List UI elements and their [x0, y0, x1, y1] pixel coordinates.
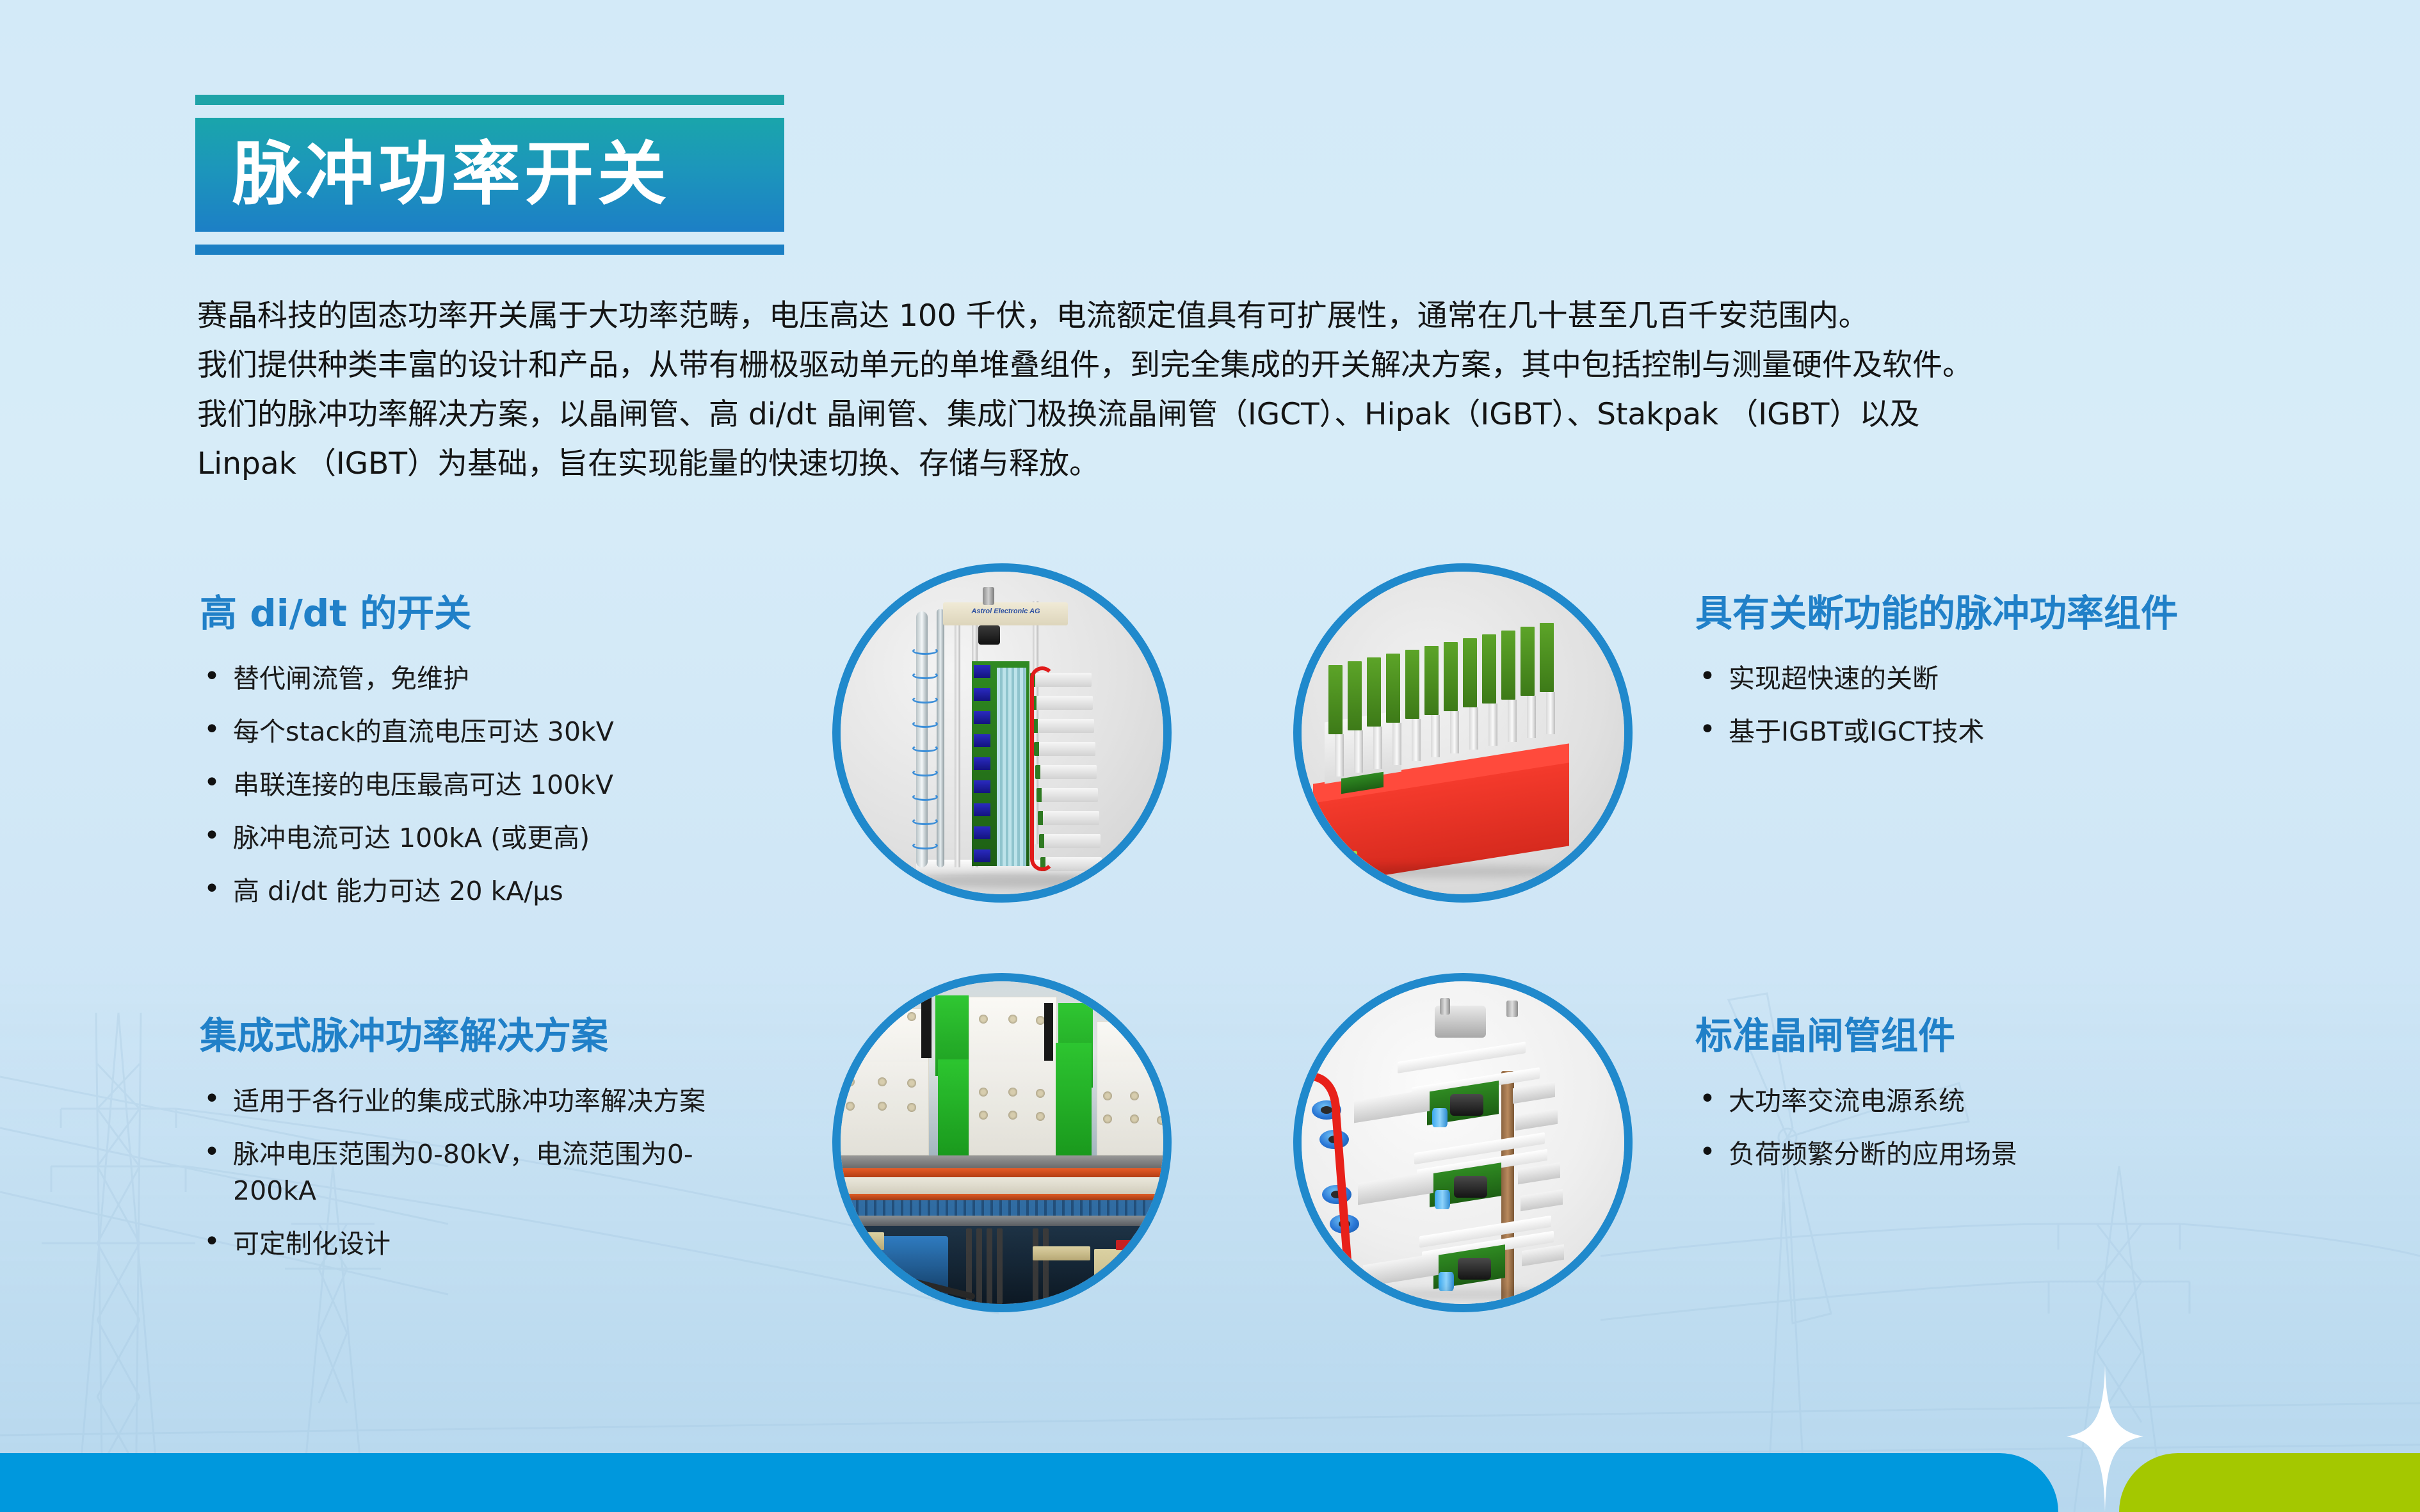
intro-line-2: 我们提供种类丰富的设计和产品，从带有栅极驱动单元的单堆叠组件，到完全集成的开关解… — [197, 341, 2156, 390]
feature-integrated-list: 适用于各行业的集成式脉冲功率解决方案 脉冲电压范围为0-80kV，电流范围为0-… — [200, 1083, 763, 1262]
list-item: 可定制化设计 — [200, 1226, 763, 1262]
list-item: 高 di/dt 能力可达 20 kA/µs — [200, 873, 840, 910]
thyristor-stack-illustration: Astrol Electronic AG — [841, 572, 1163, 894]
product-image-thyristor-stack: Astrol Electronic AG — [832, 563, 1172, 903]
intro-line-3: 我们的脉冲功率解决方案，以晶闸管、高 di/dt 晶闸管、集成门极换流晶闸管（I… — [197, 390, 2156, 439]
feature-turn-off-list: 实现超快速的关断 基于IGBT或IGCT技术 — [1695, 661, 2374, 750]
product-image-standard-thyristor-assembly — [1293, 973, 1633, 1312]
igct-module-row-illustration — [1302, 572, 1624, 894]
device-label-astrol: Astrol Electronic AG — [948, 607, 1063, 615]
list-item: 大功率交流电源系统 — [1695, 1083, 2374, 1120]
poster-page: 脉冲功率开关 赛晶科技的固态功率开关属于大功率范畴，电压高达 100 千伏，电流… — [0, 0, 2420, 1512]
list-item: 脉冲电流可达 100kA (或更高) — [200, 820, 840, 857]
list-item: 串联连接的电压最高可达 100kV — [200, 767, 840, 803]
feature-high-didt: 高 di/dt 的开关 替代闸流管，免维护 每个stack的直流电压可达 30k… — [200, 592, 840, 926]
footer-blue-section — [0, 1453, 2058, 1512]
list-item: 实现超快速的关断 — [1695, 661, 2374, 697]
feature-standard-thyristor-list: 大功率交流电源系统 负荷频繁分断的应用场景 — [1695, 1083, 2374, 1173]
list-item: 脉冲电压范围为0-80kV，电流范围为0-200kA — [200, 1136, 763, 1209]
product-image-integrated-cabinet — [832, 973, 1172, 1312]
list-item: 替代闸流管，免维护 — [200, 661, 840, 697]
feature-integrated-solution: 集成式脉冲功率解决方案 适用于各行业的集成式脉冲功率解决方案 脉冲电压范围为0-… — [200, 1015, 763, 1279]
feature-integrated-title: 集成式脉冲功率解决方案 — [200, 1015, 763, 1058]
feature-turn-off-title: 具有关断功能的脉冲功率组件 — [1695, 592, 2374, 635]
page-title: 脉冲功率开关 — [195, 140, 670, 209]
intro-line-1: 赛晶科技的固态功率开关属于大功率范畴，电压高达 100 千伏，电流额定值具有可扩… — [197, 291, 2156, 341]
product-image-igct-module-row — [1293, 563, 1633, 903]
list-item: 每个stack的直流电压可达 30kV — [200, 714, 840, 750]
red-cable-icon — [1302, 1065, 1417, 1312]
title-rule-top — [195, 95, 784, 105]
footer-bar — [0, 1453, 2420, 1512]
integrated-cabinet-illustration — [841, 981, 1163, 1304]
intro-paragraph: 赛晶科技的固态功率开关属于大功率范畴，电压高达 100 千伏，电流额定值具有可扩… — [197, 291, 2156, 488]
feature-standard-thyristor-title: 标准晶闸管组件 — [1695, 1015, 2374, 1058]
page-title-block: 脉冲功率开关 — [195, 95, 784, 255]
feature-high-didt-title: 高 di/dt 的开关 — [200, 592, 840, 635]
list-item: 负荷频繁分断的应用场景 — [1695, 1136, 2374, 1173]
title-plate: 脉冲功率开关 — [195, 118, 784, 232]
standard-thyristor-assembly-illustration — [1302, 981, 1624, 1304]
feature-high-didt-list: 替代闸流管，免维护 每个stack的直流电压可达 30kV 串联连接的电压最高可… — [200, 661, 840, 910]
list-item: 适用于各行业的集成式脉冲功率解决方案 — [200, 1083, 763, 1120]
intro-line-4: Linpak （IGBT）为基础，旨在实现能量的快速切换、存储与释放。 — [197, 439, 2156, 488]
footer-green-section — [2119, 1453, 2420, 1512]
feature-standard-thyristor: 标准晶闸管组件 大功率交流电源系统 负荷频繁分断的应用场景 — [1695, 1015, 2374, 1189]
list-item: 基于IGBT或IGCT技术 — [1695, 714, 2374, 750]
feature-turn-off-capability: 具有关断功能的脉冲功率组件 实现超快速的关断 基于IGBT或IGCT技术 — [1695, 592, 2374, 767]
title-rule-bottom — [195, 245, 784, 255]
